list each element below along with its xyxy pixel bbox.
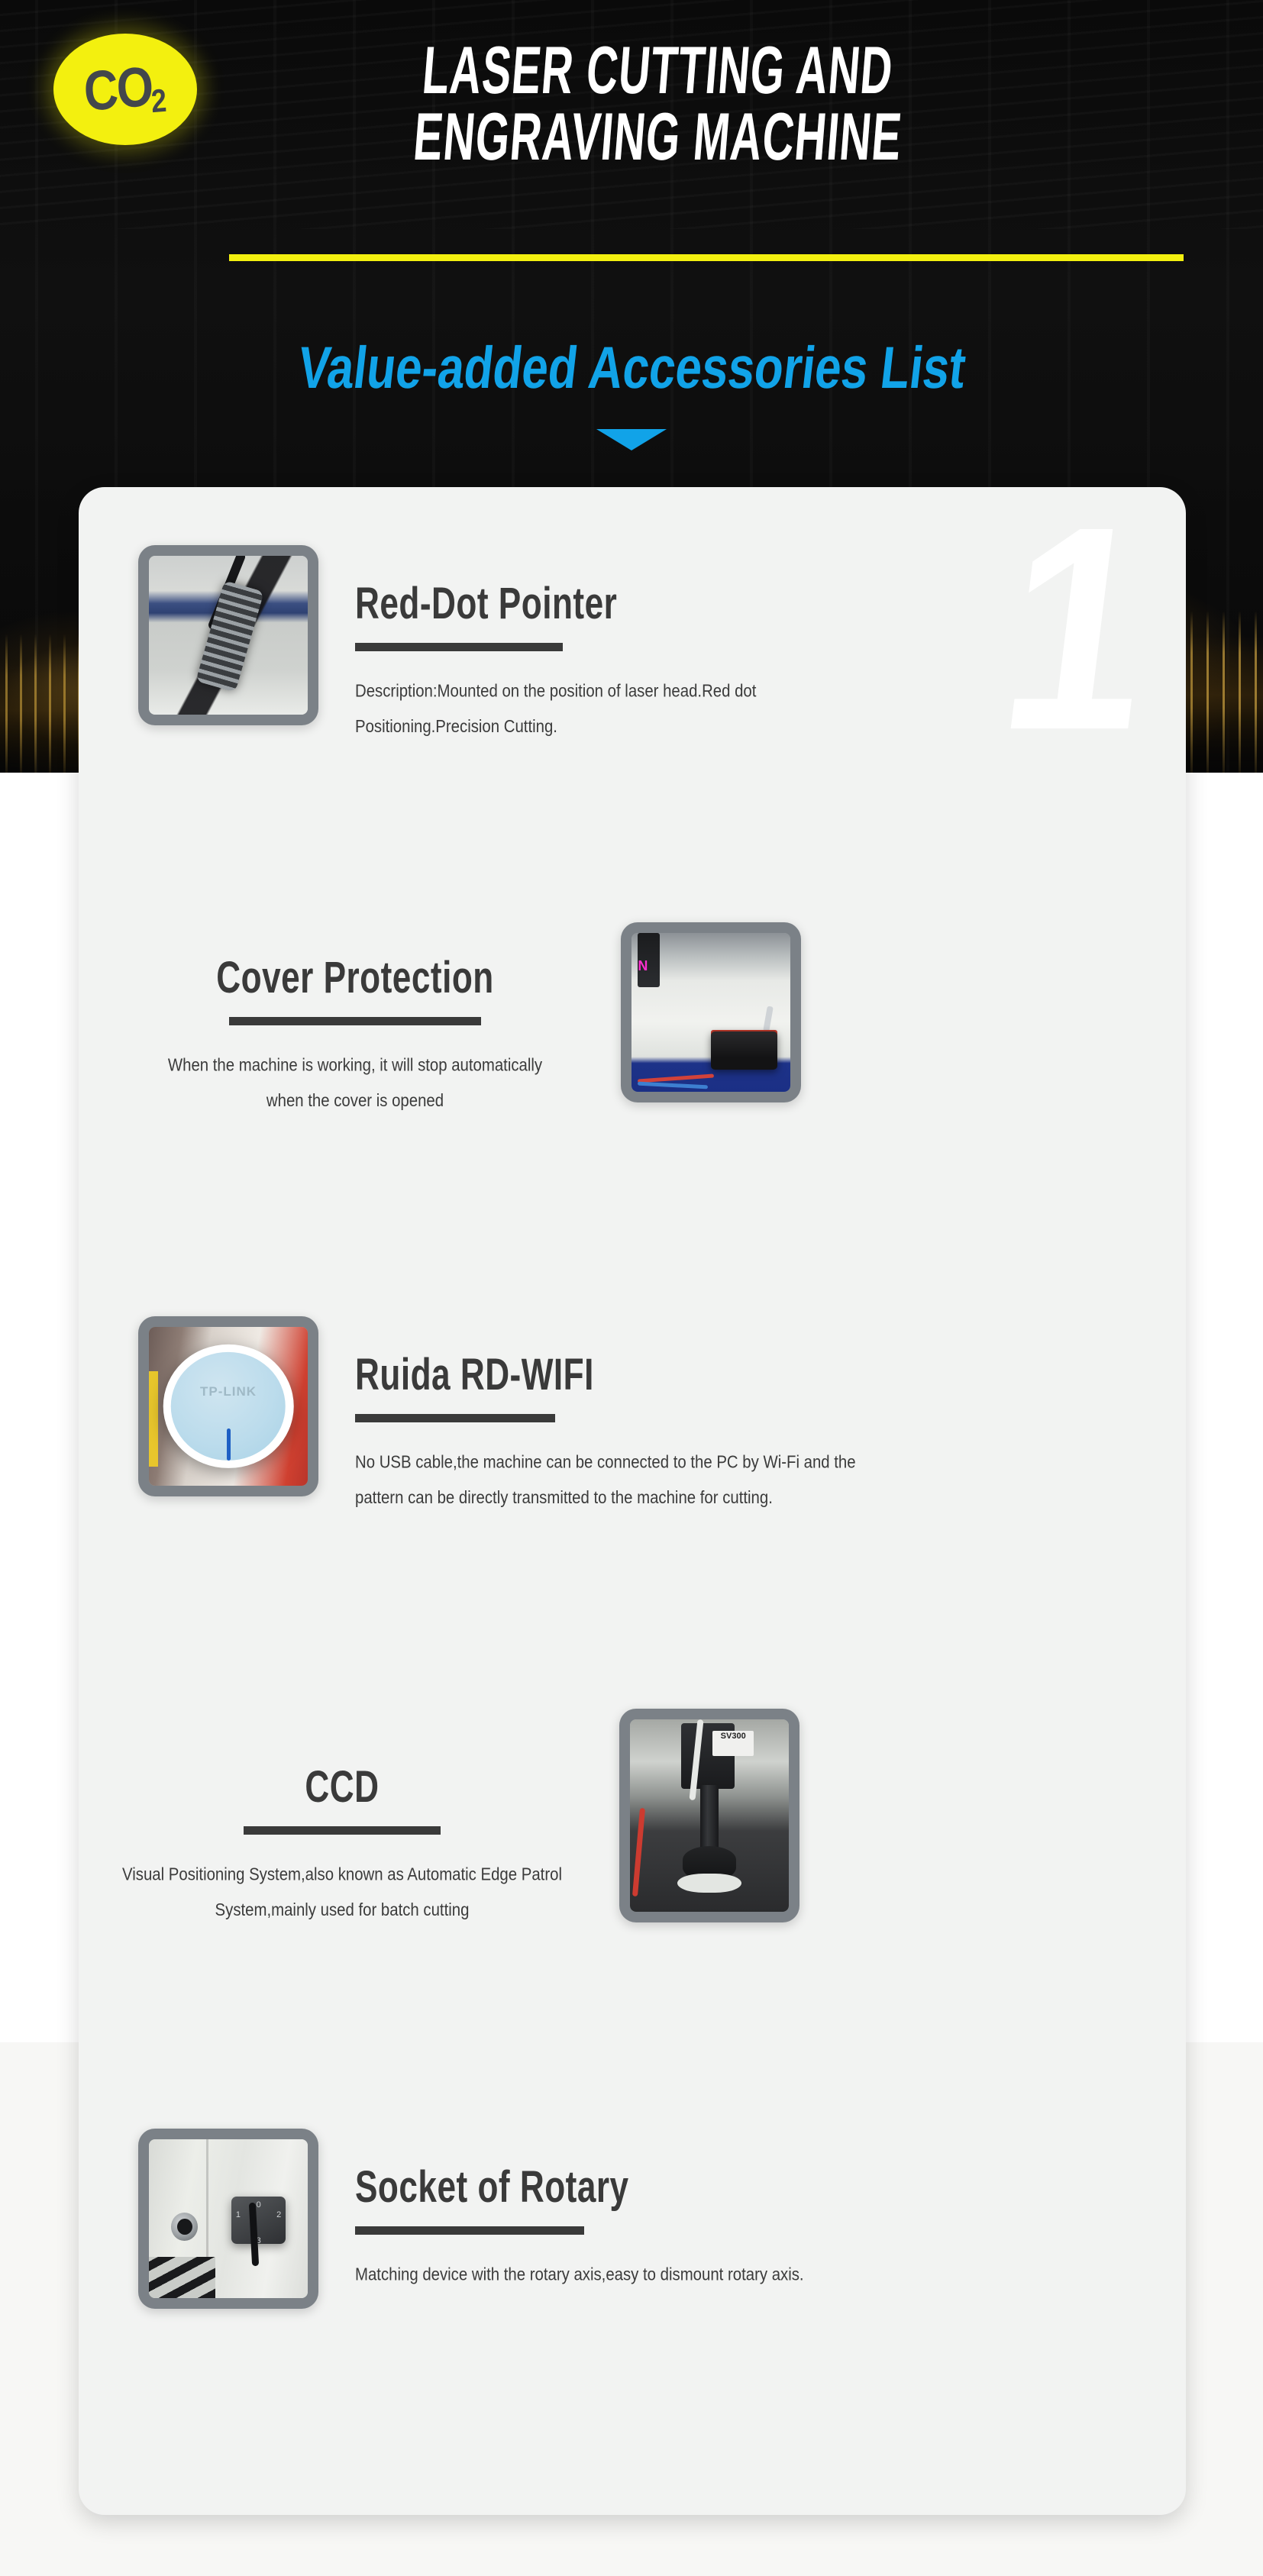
photo-brand-label: TP-LINK (149, 1384, 308, 1399)
subtitle-wrap: Value-added Accessories List (0, 345, 1263, 392)
section-title-socket-of-rotary: Socket of Rotary (355, 2164, 949, 2209)
section-description-socket-of-rotary: Matching device with the rotary axis,eas… (355, 2258, 888, 2293)
accessories-card: 1 Red-Dot Pointer Description:Mounted on… (79, 487, 1186, 2515)
photo-red-dot-pointer (149, 556, 308, 715)
subtitle-trapezoid-icon (596, 429, 667, 450)
text-block-red-dot-pointer: Red-Dot Pointer Description:Mounted on t… (355, 545, 974, 738)
infographic-page: CO2 LASER CUTTING AND ENGRAVING MACHINE … (0, 0, 1263, 2576)
photo-ruida-rd-wifi: TP-LINK (149, 1327, 308, 1486)
section-cover-protection: Cover Protection When the machine is wor… (79, 922, 1186, 1112)
section-title-ruida-rd-wifi: Ruida RD-WIFI (355, 1351, 949, 1396)
section-description-ccd: Visual Positioning System,also known as … (105, 1858, 580, 1928)
section-rule (355, 2226, 584, 2235)
hero-underline-bar (229, 254, 1184, 261)
hero-title: LASER CUTTING AND ENGRAVING MACHINE (153, 37, 1168, 169)
knob-position-numbers: 0123 (231, 2200, 286, 2247)
section-description-red-dot-pointer: Description:Mounted on the position of l… (355, 674, 866, 744)
text-block-ruida-rd-wifi: Ruida RD-WIFI No USB cable,the machine c… (355, 1316, 974, 1509)
photo-marker-n: N (638, 958, 648, 974)
section-socket-of-rotary: 0123 Socket of Rotary Matching device wi… (79, 2129, 1186, 2309)
hero-title-line-2: ENGRAVING MACHINE (188, 103, 1128, 172)
text-block-ccd: CCD Visual Positioning System,also known… (79, 1709, 606, 1922)
section-rule (355, 643, 563, 651)
image-frame-ccd: SV300 (619, 1709, 799, 1922)
section-ccd: CCD Visual Positioning System,also known… (79, 1709, 1186, 1922)
text-block-socket-of-rotary: Socket of Rotary Matching device with th… (355, 2129, 974, 2290)
image-frame-cover-protection: N (621, 922, 801, 1102)
section-rule (355, 1414, 555, 1422)
text-block-cover-protection: Cover Protection When the machine is wor… (111, 922, 599, 1112)
section-title-ccd: CCD (89, 1764, 595, 1809)
section-description-ruida-rd-wifi: No USB cable,the machine can be connecte… (355, 1445, 874, 1516)
section-description-cover-protection: When the machine is working, it will sto… (159, 1048, 551, 1119)
section-title-red-dot-pointer: Red-Dot Pointer (355, 580, 949, 625)
image-frame-ruida-rd-wifi: TP-LINK (138, 1316, 318, 1496)
subtitle-text: Value-added Accessories List (295, 339, 968, 399)
photo-model-label: SV300 (712, 1731, 754, 1756)
photo-ccd: SV300 (630, 1719, 789, 1912)
image-frame-socket-of-rotary: 0123 (138, 2129, 318, 2309)
section-red-dot-pointer: Red-Dot Pointer Description:Mounted on t… (79, 545, 1186, 738)
photo-socket-of-rotary: 0123 (149, 2139, 308, 2298)
hero-title-line-1: LASER CUTTING AND (188, 37, 1128, 105)
section-rule (244, 1826, 441, 1835)
image-frame-red-dot-pointer (138, 545, 318, 725)
section-title-cover-protection: Cover Protection (121, 954, 590, 999)
section-ruida-rd-wifi: TP-LINK Ruida RD-WIFI No USB cable,the m… (79, 1316, 1186, 1509)
photo-cover-protection: N (631, 933, 790, 1092)
section-rule (229, 1017, 481, 1025)
